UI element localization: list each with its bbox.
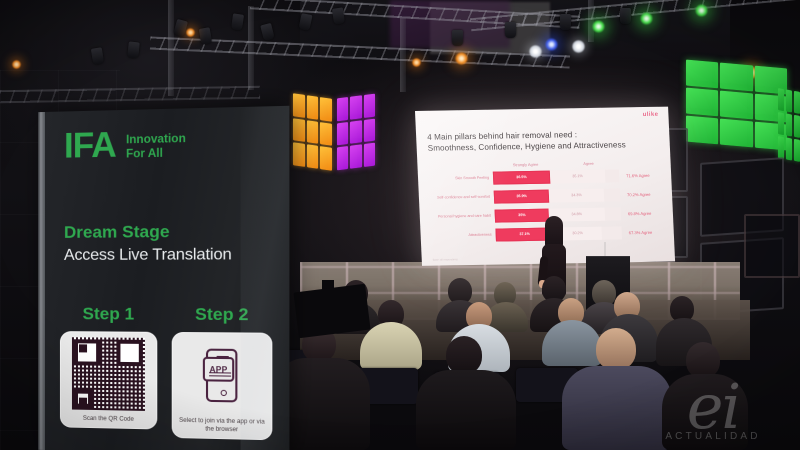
banner-steps: Step 1 Scan the QR Code Step 2 APP xyxy=(60,304,272,440)
stage-light-fixture xyxy=(127,41,140,58)
spotlight-green xyxy=(640,12,653,25)
step-2-card[interactable]: APP Select to join via the app or via th… xyxy=(172,332,273,441)
chart-row: Skin Smooth Feeling 36.5% 35.1% 71.6% Ag… xyxy=(429,167,662,188)
spotlight-amber xyxy=(12,60,21,69)
ifa-tagline: Innovation For All xyxy=(126,132,186,162)
spotlight-orange xyxy=(455,52,468,65)
ifa-tagline-line-1: Innovation xyxy=(126,132,186,148)
ifa-brand-block: IFA Innovation For All xyxy=(64,129,186,164)
stage-light-fixture xyxy=(91,47,104,65)
stage-light-fixture xyxy=(332,7,345,24)
banner-heading-word-1: Dream xyxy=(64,222,117,242)
step-1-title: Step 1 xyxy=(60,304,157,325)
spotlight-green xyxy=(592,20,605,33)
spotlight-blue xyxy=(545,38,558,51)
banner-heading: Dream Stage xyxy=(64,220,232,243)
legend-strongly-agree: Strongly Agree xyxy=(492,161,558,167)
led-face-magenta xyxy=(335,91,377,172)
chart-row-total: 70.2% Agree xyxy=(620,192,651,198)
chart-row-label: Self-confidence and self-comfort xyxy=(430,195,494,201)
chart-row: Self-confidence and self-comfort 35.9% 3… xyxy=(430,186,663,207)
led-panel-tower-orange-magenta xyxy=(291,94,377,170)
banner-metal-edge xyxy=(38,112,45,450)
audience-head xyxy=(686,342,720,378)
conference-stage-photo: ulike 4 Main pillars behind hair removal… xyxy=(0,0,800,450)
spotlight-green xyxy=(695,4,708,17)
bar-agree: 34.3% xyxy=(549,189,604,203)
bar-strongly-agree: 35.9% xyxy=(494,190,550,204)
step-1-caption: Scan the QR Code xyxy=(83,415,134,424)
spotlight-white xyxy=(572,40,585,53)
app-badge: APP xyxy=(203,357,234,382)
audience-head xyxy=(596,328,636,370)
spotlight-amber xyxy=(412,58,421,67)
chart-row-total: 67.3% Agree xyxy=(622,230,653,236)
audience-shoulders xyxy=(562,366,672,450)
audience-shoulders xyxy=(662,374,748,450)
phone-home-button xyxy=(221,390,227,396)
chart-row-total: 71.6% Agree xyxy=(619,173,650,179)
led-face-green xyxy=(684,57,789,152)
banner-subheading: Access Live Translation xyxy=(64,245,232,266)
spotlight-white xyxy=(529,45,542,58)
chart-row-label: Skin Smooth Feeling xyxy=(429,176,493,182)
spotlight-amber xyxy=(186,28,195,37)
audience-head xyxy=(446,336,482,374)
step-1: Step 1 Scan the QR Code xyxy=(60,304,157,438)
led-face-orange xyxy=(291,91,334,173)
chart-row-label: Personal hygiene and care habit xyxy=(431,214,495,220)
ifa-dream-stage-banner: IFA Innovation For All Dream Stage Acces… xyxy=(44,106,289,450)
stage-light-fixture xyxy=(560,14,571,30)
slide-footnote: Base: all respondents xyxy=(433,258,458,261)
chart-row-total: 69.8% Agree xyxy=(621,211,652,217)
slide-title: 4 Main pillars behind hair removal need … xyxy=(427,128,660,155)
stage-light-fixture xyxy=(505,22,516,38)
stage-monitor xyxy=(293,284,370,338)
qr-code-icon[interactable] xyxy=(72,337,145,411)
led-panel-tower-green-edge xyxy=(776,88,800,162)
banner-heading-word-2: Stage xyxy=(122,222,169,242)
chart-row-track: 36.5% 35.1% xyxy=(493,169,620,184)
ifa-tagline-line-2: For All xyxy=(126,147,186,163)
stage-light-fixture xyxy=(620,8,631,24)
step-2-caption: Select to join via the app or via the br… xyxy=(177,417,267,436)
smartphone-app-icon: APP xyxy=(184,338,259,413)
led-face-green-edge xyxy=(776,86,800,165)
stage-light-fixture xyxy=(452,30,463,46)
bar-strongly-agree: 36.5% xyxy=(493,171,550,185)
scenery-frame xyxy=(744,214,800,278)
bar-agree: 35.1% xyxy=(550,170,606,184)
chart-row-label: Attractiveness xyxy=(432,233,496,239)
legend-agree: Agree xyxy=(558,160,618,166)
audience-shoulders xyxy=(416,370,516,450)
step-1-card[interactable]: Scan the QR Code xyxy=(60,331,157,429)
step-2: Step 2 APP Select to join via the app or… xyxy=(172,304,273,440)
led-panel-tower-green xyxy=(684,62,789,148)
step-2-title: Step 2 xyxy=(172,304,273,325)
ulike-logo: ulike xyxy=(643,112,659,118)
chart-row-track: 35.9% 34.3% xyxy=(494,188,621,203)
ifa-logo: IFA xyxy=(64,130,116,161)
banner-heading-block: Dream Stage Access Live Translation xyxy=(64,220,232,266)
